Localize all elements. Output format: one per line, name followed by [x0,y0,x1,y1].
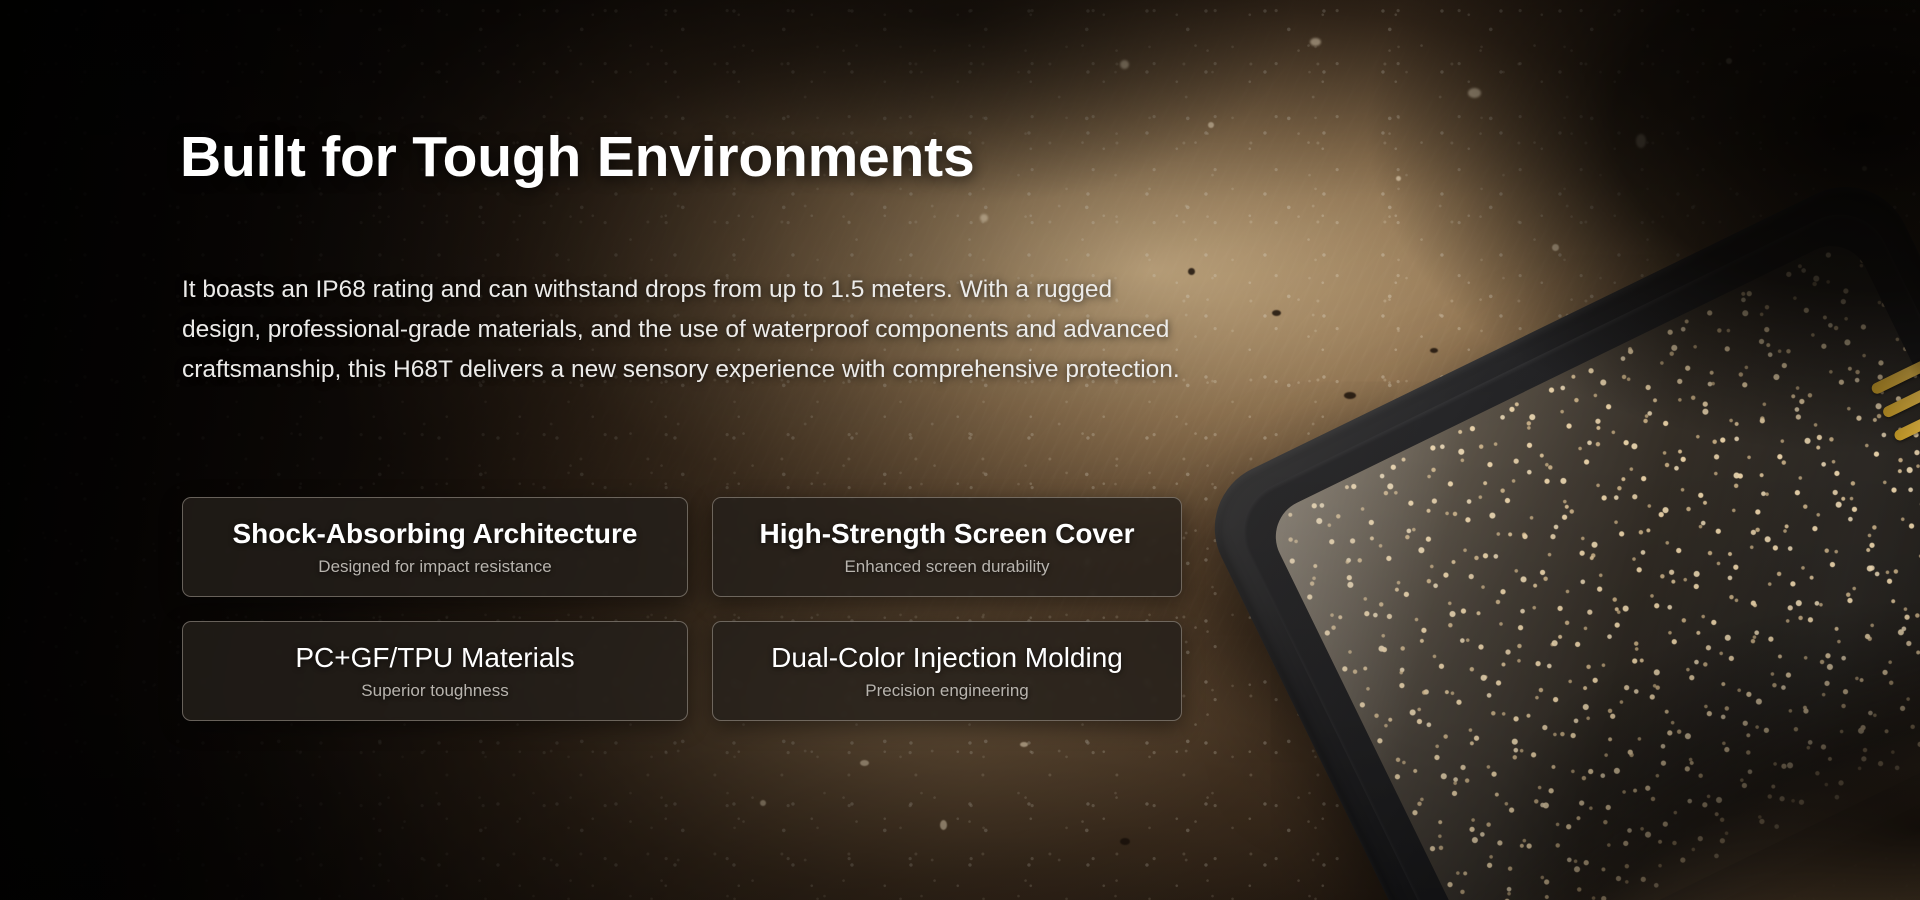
feature-card-title: PC+GF/TPU Materials [295,642,574,674]
feature-card-subtitle: Enhanced screen durability [844,557,1049,577]
feature-card[interactable]: High-Strength Screen Cover Enhanced scre… [712,497,1182,597]
feature-card[interactable]: Dual-Color Injection Molding Precision e… [712,621,1182,721]
feature-card-subtitle: Designed for impact resistance [318,557,551,577]
hero-content: Built for Tough Environments It boasts a… [180,0,1240,900]
feature-card-title: Dual-Color Injection Molding [771,642,1123,674]
feature-card-title: Shock-Absorbing Architecture [232,518,637,550]
feature-card-subtitle: Superior toughness [361,681,508,701]
feature-card[interactable]: Shock-Absorbing Architecture Designed fo… [182,497,688,597]
feature-card-grid: Shock-Absorbing Architecture Designed fo… [182,497,1182,721]
feature-card[interactable]: PC+GF/TPU Materials Superior toughness [182,621,688,721]
hero-description: It boasts an IP68 rating and can withsta… [182,270,1182,390]
feature-card-subtitle: Precision engineering [865,681,1029,701]
feature-card-title: High-Strength Screen Cover [760,518,1135,550]
page-title: Built for Tough Environments [180,126,974,190]
